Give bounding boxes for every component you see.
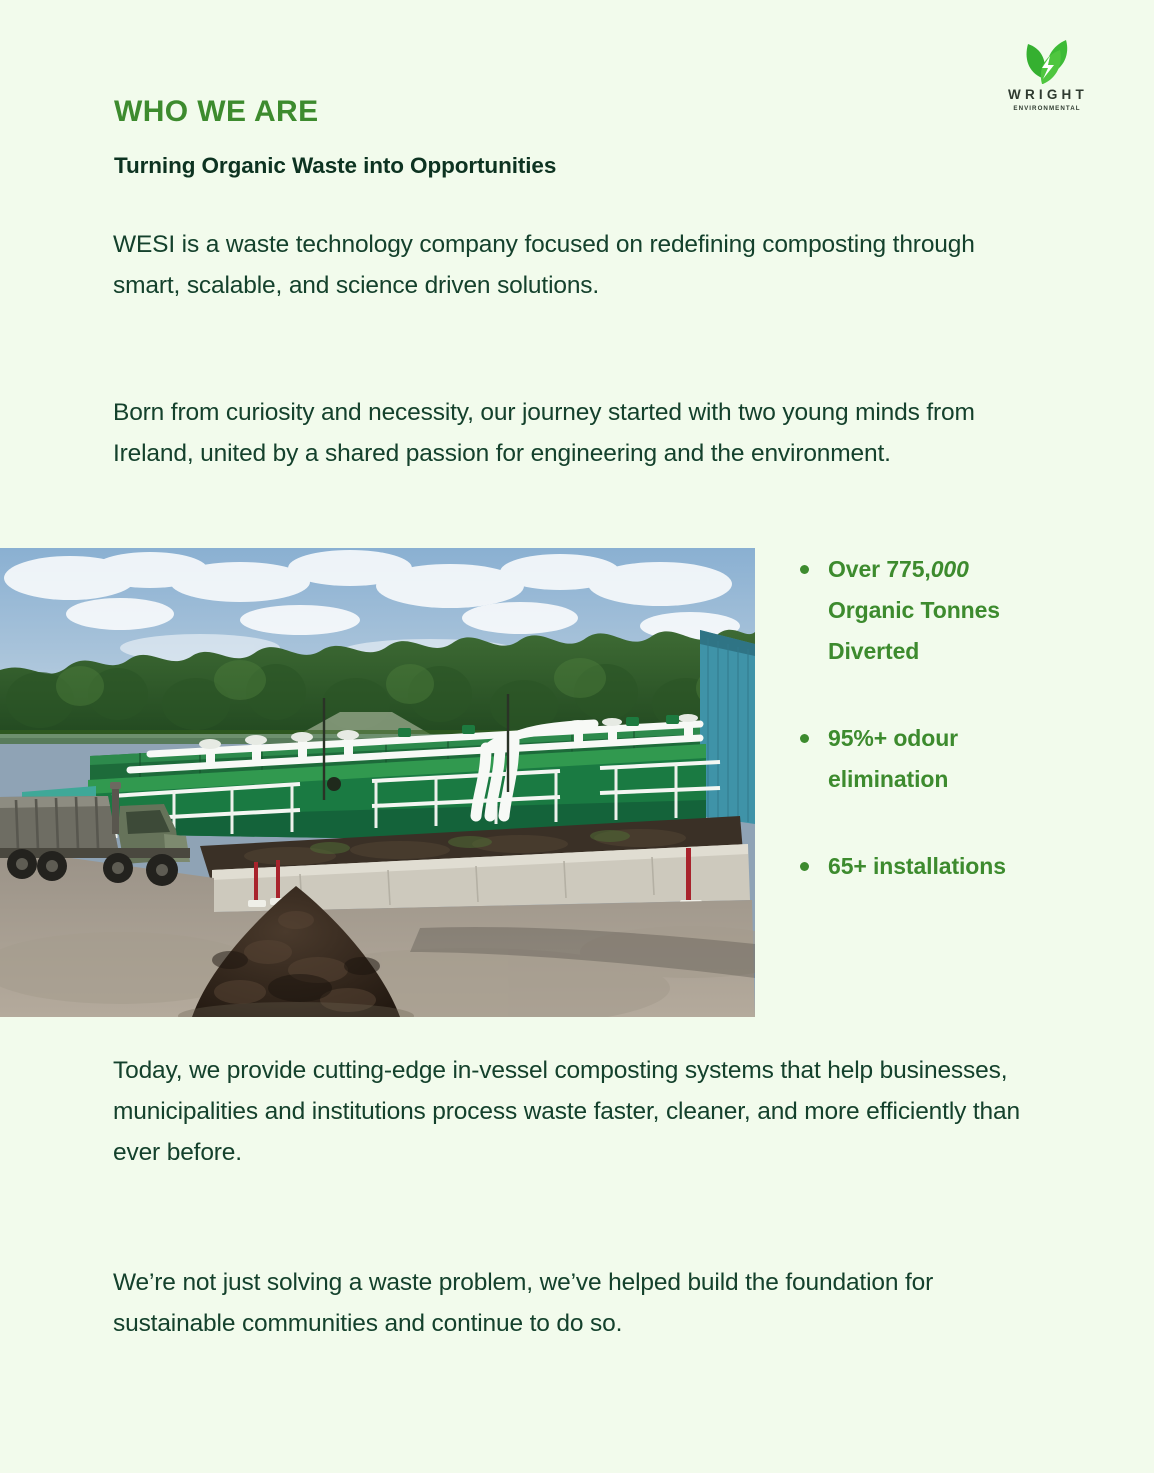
stat-prefix: 95%+ odour elimination: [828, 725, 958, 792]
page-title: Turning Organic Waste into Opportunities: [114, 152, 556, 179]
stat-prefix: Over 775,: [828, 556, 931, 582]
stats-list: Over 775,000 Organic Tonnes Diverted 95%…: [790, 549, 1060, 887]
section-eyebrow: WHO WE ARE: [114, 95, 319, 128]
logo-wordmark: WRIGHT: [986, 88, 1106, 102]
list-item: Over 775,000 Organic Tonnes Diverted: [790, 549, 1060, 672]
paragraph-today: Today, we provide cutting-edge in-vessel…: [113, 1050, 1053, 1173]
stat-prefix: 65+ installations: [828, 853, 1006, 879]
facility-photo-graphic: [0, 548, 755, 1017]
list-item: 65+ installations: [790, 846, 1060, 887]
facility-photo: [0, 548, 755, 1017]
stat-suffix: Organic Tonnes Diverted: [828, 597, 1000, 664]
bullet-dot-icon: [800, 565, 809, 574]
bullet-dot-icon: [800, 734, 809, 743]
paragraph-intro: WESI is a waste technology company focus…: [113, 224, 1043, 306]
logo-subword: ENVIRONMENTAL: [986, 105, 1106, 112]
bullet-dot-icon: [800, 862, 809, 871]
company-logo: WRIGHT ENVIRONMENTAL: [986, 28, 1106, 112]
leaf-lightning-icon: [1012, 28, 1080, 84]
paragraph-origin: Born from curiosity and necessity, our j…: [113, 392, 1043, 474]
paragraph-closing: We’re not just solving a waste problem, …: [113, 1262, 1053, 1344]
stat-italic: 000: [931, 556, 969, 582]
list-item: 95%+ odour elimination: [790, 718, 1060, 800]
